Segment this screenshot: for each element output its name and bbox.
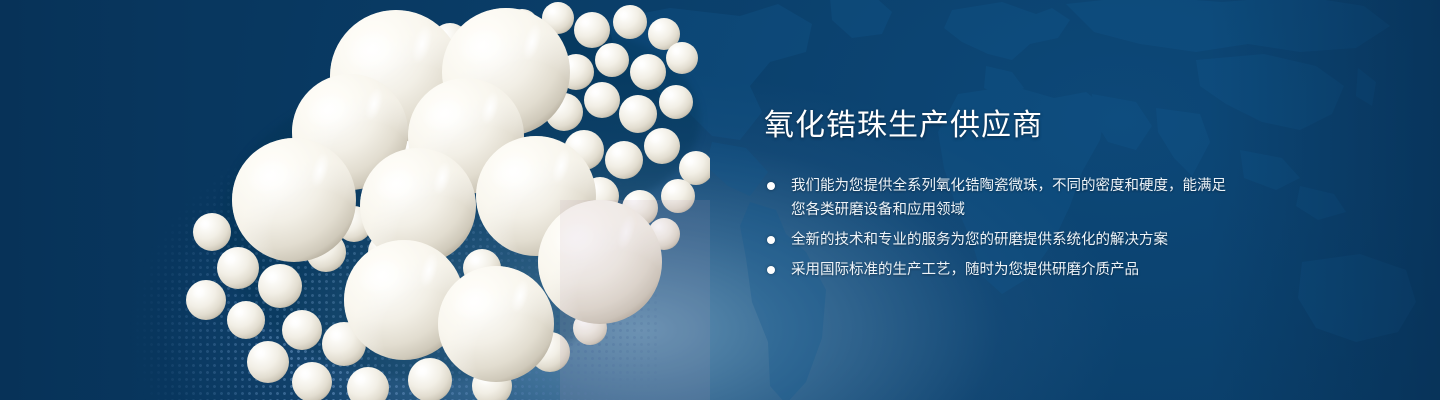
list-item: 我们能为您提供全系列氧化锆陶瓷微珠，不同的密度和硬度，能满足您各类研磨设备和应用… — [764, 174, 1234, 222]
banner-copy: 氧化锆珠生产供应商 我们能为您提供全系列氧化锆陶瓷微珠，不同的密度和硬度，能满足… — [764, 106, 1234, 282]
list-item-label: 全新的技术和专业的服务为您的研磨提供系统化的解决方案 — [791, 228, 1234, 252]
list-item: 采用国际标准的生产工艺，随时为您提供研磨介质产品 — [764, 258, 1234, 282]
hero-banner: 氧化锆珠生产供应商 我们能为您提供全系列氧化锆陶瓷微珠，不同的密度和硬度，能满足… — [0, 0, 1440, 400]
list-item: 全新的技术和专业的服务为您的研磨提供系统化的解决方案 — [764, 228, 1234, 252]
bullet-dot-icon — [767, 266, 775, 274]
list-item-label: 采用国际标准的生产工艺，随时为您提供研磨介质产品 — [791, 258, 1234, 282]
bullet-dot-icon — [767, 182, 775, 190]
list-item-label: 我们能为您提供全系列氧化锆陶瓷微珠，不同的密度和硬度，能满足您各类研磨设备和应用… — [791, 174, 1234, 222]
bullet-dot-icon — [767, 236, 775, 244]
page-title: 氧化锆珠生产供应商 — [764, 106, 1234, 146]
feature-list: 我们能为您提供全系列氧化锆陶瓷微珠，不同的密度和硬度，能满足您各类研磨设备和应用… — [764, 174, 1234, 282]
